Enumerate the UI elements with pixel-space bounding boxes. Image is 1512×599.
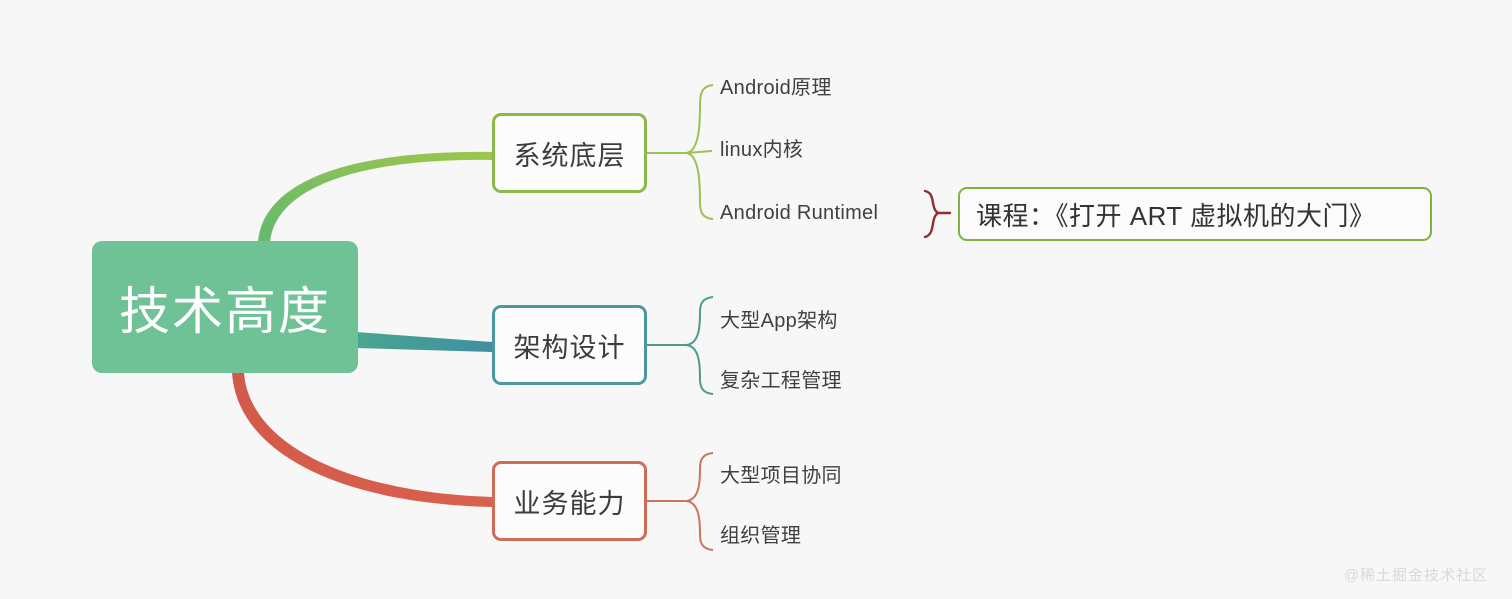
branch-node-architecture-design[interactable]: 架构设计 <box>492 305 647 385</box>
leaf-large-app-architecture[interactable]: 大型App架构 <box>720 304 838 333</box>
branch-node-system-foundation[interactable]: 系统底层 <box>492 113 647 193</box>
branch-node-business-capability[interactable]: 业务能力 <box>492 461 647 541</box>
callout-brace-icon <box>925 191 950 237</box>
sub-links-system-foundation <box>647 85 713 219</box>
leaf-linux-kernel[interactable]: linux内核 <box>720 133 803 162</box>
leaf-android-principles[interactable]: Android原理 <box>720 71 832 100</box>
watermark: @稀土掘金技术社区 <box>1344 564 1488 585</box>
main-link-business-capability <box>232 372 492 507</box>
root-node[interactable]: 技术高度 <box>92 241 358 373</box>
sub-links-business-capability <box>647 453 713 550</box>
main-link-architecture-design <box>356 332 492 352</box>
mindmap-canvas: 技术高度 系统底层 架构设计 业务能力 Android原理 linux内核 An… <box>0 0 1512 599</box>
leaf-organization-management[interactable]: 组织管理 <box>720 519 801 548</box>
course-callout-box[interactable]: 课程：《打开 ART 虚拟机的大门》 <box>958 187 1432 241</box>
sub-links-architecture-design <box>647 297 713 394</box>
leaf-complex-engineering-management[interactable]: 复杂工程管理 <box>720 364 842 393</box>
leaf-large-project-collaboration[interactable]: 大型项目协同 <box>720 459 842 488</box>
leaf-android-runtime[interactable]: Android Runtimel <box>720 202 878 225</box>
main-link-system-foundation <box>258 152 492 245</box>
